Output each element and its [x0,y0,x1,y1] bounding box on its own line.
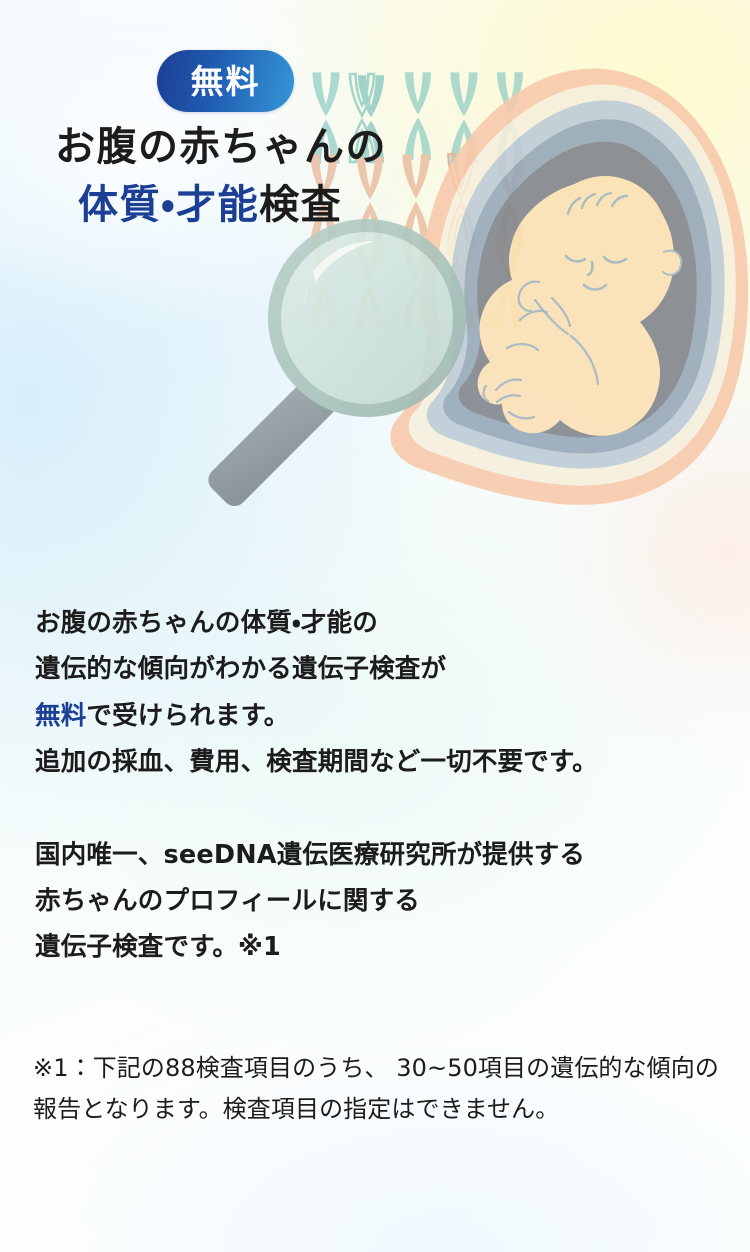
copy-text: お腹の赤ちゃんの体質・才能の [35,608,378,638]
page-title: お腹の赤ちゃんの 体質・才能検査 [0,118,560,235]
paragraph-spacer [35,786,725,832]
copy-text: 赤ちゃんのプロフィールに関する [35,886,420,916]
page-title-accent: 体質・才能 [78,182,259,228]
copy-text: 遺伝子検査です。※1 [35,932,281,962]
page-title-line-2: 体質・才能検査 [0,176,560,234]
copy-line: 国内唯一、seeDNA遺伝医療研究所が提供する [35,832,725,878]
copy-line: 追加の採血、費用、検査期間など一切不要です。 [35,739,725,785]
copy-text: 国内唯一、seeDNA遺伝医療研究所が提供する [35,840,585,870]
copy-line: 遺伝的な傾向がわかる遺伝子検査が [35,646,725,692]
free-badge-label: 無料 [191,65,261,98]
copy-line: 赤ちゃんのプロフィールに関する [35,878,725,924]
copy-text: 遺伝的な傾向がわかる遺伝子検査が [35,654,446,684]
copy-line: 無料で受けられます。 [35,693,725,739]
free-badge: 無料 [157,50,294,112]
promo-page: 無料 お腹の赤ちゃんの 体質・才能検査 お腹の赤ちゃんの体質・才能の 遺伝的な傾… [0,0,750,1252]
hero-illustration [0,0,750,580]
copy-text: で受けられます。 [86,701,289,731]
body-copy: お腹の赤ちゃんの体質・才能の 遺伝的な傾向がわかる遺伝子検査が 無料で受けられま… [35,600,725,971]
copy-text: 追加の採血、費用、検査期間など一切不要です。 [35,747,598,777]
footnote: ※1：下記の88検査項目のうち、 30~50項目の遺伝的な傾向の報告となります。… [33,1048,723,1131]
page-title-plain: 検査 [259,182,342,228]
page-title-line-1: お腹の赤ちゃんの [0,118,560,176]
copy-text-accent: 無料 [35,701,86,731]
copy-line: お腹の赤ちゃんの体質・才能の [35,600,725,646]
copy-line: 遺伝子検査です。※1 [35,924,725,970]
